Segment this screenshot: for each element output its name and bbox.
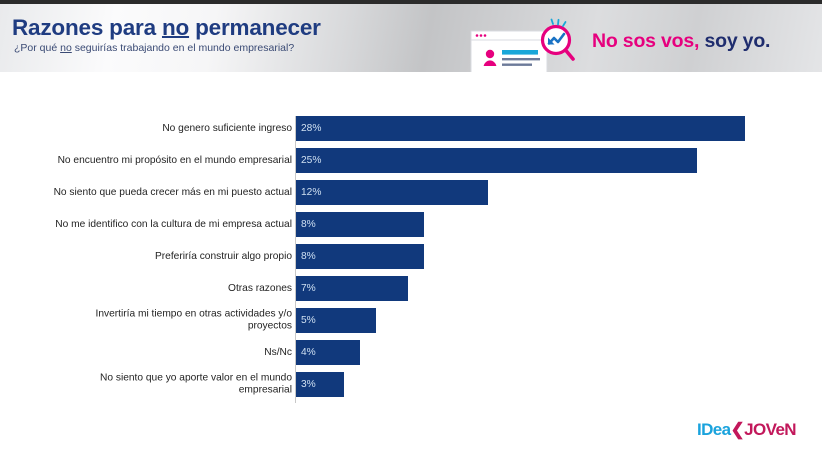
search-profile-card-icon bbox=[468, 18, 578, 72]
slide-header: Razones para no permanecer ¿Por qué no s… bbox=[0, 4, 822, 72]
chart-bar-value-label: 8% bbox=[301, 251, 316, 262]
page-title-underlined: no bbox=[162, 15, 189, 40]
page-title-part2: permanecer bbox=[189, 15, 321, 40]
chart-category-label: Otras razones bbox=[52, 282, 292, 295]
chart-category-label: Preferiría construir algo propio bbox=[52, 250, 292, 263]
chart-category-label: No siento que pueda crecer más en mi pue… bbox=[52, 186, 292, 199]
logo-joven-text: JOVeN bbox=[744, 420, 796, 439]
chart-bar[interactable]: 5% bbox=[296, 308, 376, 333]
chart-bar-value-label: 8% bbox=[301, 219, 316, 230]
slide-root: Razones para no permanecer ¿Por qué no s… bbox=[0, 0, 822, 470]
chart-bar[interactable]: 28% bbox=[296, 116, 745, 141]
slogan-navy-text: soy yo. bbox=[699, 30, 770, 52]
chart-row: No me identifico con la cultura de mi em… bbox=[0, 212, 822, 237]
chart-bar[interactable]: 4% bbox=[296, 340, 360, 365]
chart-bar[interactable]: 25% bbox=[296, 148, 697, 173]
chart-category-label: Ns/Nc bbox=[52, 346, 292, 359]
chart-bar[interactable]: 3% bbox=[296, 372, 344, 397]
chart-row: No genero suficiente ingreso28% bbox=[0, 116, 822, 141]
chart-bar[interactable]: 12% bbox=[296, 180, 488, 205]
chart-row: No encuentro mi propósito en el mundo em… bbox=[0, 148, 822, 173]
chart-category-label: No siento que yo aporte valor en el mund… bbox=[52, 372, 292, 397]
chart-bar-value-label: 12% bbox=[301, 187, 321, 198]
chart-category-label: No genero suficiente ingreso bbox=[52, 122, 292, 135]
chart-row: No siento que pueda crecer más en mi pue… bbox=[0, 180, 822, 205]
chart-bar-value-label: 4% bbox=[301, 347, 316, 358]
header-text-block: Razones para no permanecer ¿Por qué no s… bbox=[12, 16, 321, 54]
chart-bar-value-label: 25% bbox=[301, 155, 321, 166]
chart-row: Invertiría mi tiempo en otras actividade… bbox=[0, 308, 822, 333]
chart-row: Ns/Nc4% bbox=[0, 340, 822, 365]
page-subtitle-part1: ¿Por qué bbox=[14, 42, 60, 54]
chart-bar-value-label: 7% bbox=[301, 283, 316, 294]
chart-category-label: No encuentro mi propósito en el mundo em… bbox=[52, 154, 292, 167]
chart-category-label: No me identifico con la cultura de mi em… bbox=[52, 218, 292, 231]
header-slogan: No sos vos, soy yo. bbox=[592, 30, 770, 53]
idea-joven-logo: IDea❮JOVeN bbox=[697, 421, 796, 438]
chart-row: Otras razones7% bbox=[0, 276, 822, 301]
chart-category-label: Invertiría mi tiempo en otras actividade… bbox=[52, 308, 292, 333]
page-subtitle: ¿Por qué no seguirías trabajando en el m… bbox=[14, 43, 321, 55]
horizontal-bar-chart: No genero suficiente ingreso28%No encuen… bbox=[0, 104, 822, 404]
page-title: Razones para no permanecer bbox=[12, 16, 321, 40]
chart-bar-value-label: 5% bbox=[301, 315, 316, 326]
page-title-part1: Razones para bbox=[12, 15, 162, 40]
chart-row: Preferiría construir algo propio8% bbox=[0, 244, 822, 269]
page-subtitle-part2: seguirías trabajando en el mundo empresa… bbox=[72, 42, 294, 54]
logo-idea-text: IDea bbox=[697, 420, 731, 439]
page-subtitle-underlined: no bbox=[60, 42, 72, 54]
chart-bar[interactable]: 8% bbox=[296, 212, 424, 237]
chart-bar[interactable]: 8% bbox=[296, 244, 424, 269]
logo-chevron-icon: ❮ bbox=[731, 420, 745, 439]
chart-row: No siento que yo aporte valor en el mund… bbox=[0, 372, 822, 397]
chart-bar[interactable]: 7% bbox=[296, 276, 408, 301]
chart-bar-value-label: 3% bbox=[301, 379, 316, 390]
chart-bar-value-label: 28% bbox=[301, 123, 321, 134]
slogan-pink-text: No sos vos, bbox=[592, 30, 699, 52]
